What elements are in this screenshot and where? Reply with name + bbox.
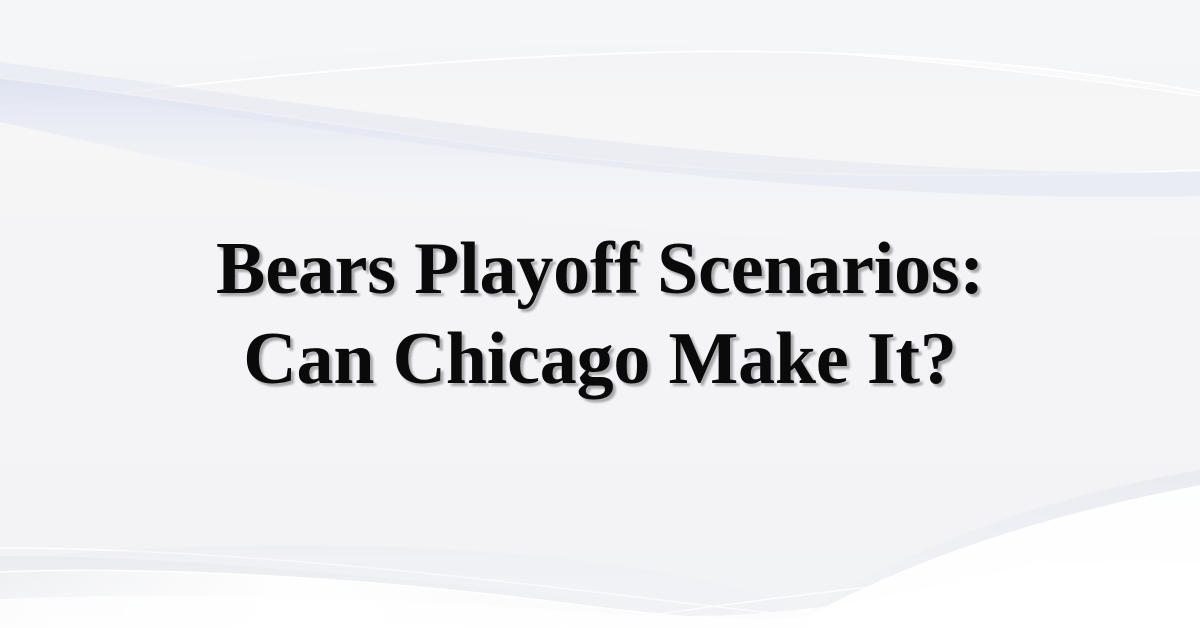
page-title: Bears Playoff Scenarios: Can Chicago Mak… [146, 224, 1054, 404]
page-title-line-2: Can Chicago Make It? [216, 314, 984, 404]
page-title-line-1: Bears Playoff Scenarios: [216, 224, 984, 314]
social-share-card: Bears Playoff Scenarios: Can Chicago Mak… [0, 0, 1200, 628]
headline-container: Bears Playoff Scenarios: Can Chicago Mak… [0, 0, 1200, 628]
